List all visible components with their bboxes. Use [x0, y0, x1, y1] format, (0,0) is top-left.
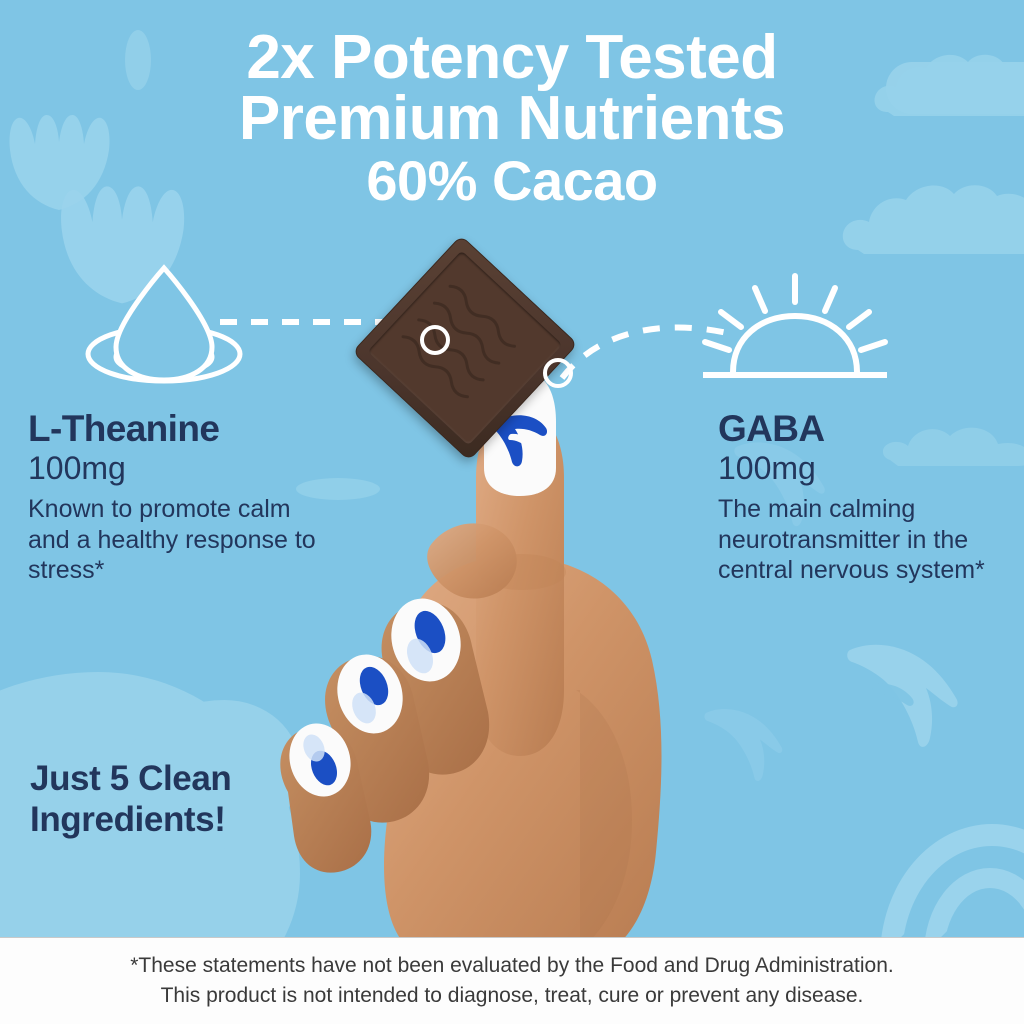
headline-line-2: Premium Nutrients: [0, 89, 1024, 150]
nutrient-description: Known to promote calm and a healthy resp…: [28, 494, 328, 586]
disclaimer-line-1: *These statements have not been evaluate…: [130, 951, 893, 981]
fda-disclaimer: *These statements have not been evaluate…: [0, 937, 1024, 1024]
headline-line-1: 2x Potency Tested: [0, 28, 1024, 89]
sunrise-icon: [695, 272, 895, 384]
nutrient-description: The main calming neurotransmitter in the…: [718, 494, 1008, 586]
nutrient-name: L-Theanine: [28, 410, 328, 449]
nutrient-block-l-theanine: L-Theanine 100mg Known to promote calm a…: [28, 410, 328, 586]
bird-icon: [846, 632, 972, 754]
claim-line-2: Ingredients!: [30, 799, 350, 840]
disclaimer-line-2: This product is not intended to diagnose…: [161, 981, 864, 1011]
nutrient-dose: 100mg: [28, 451, 328, 486]
clean-ingredients-claim: Just 5 Clean Ingredients!: [30, 758, 350, 841]
headline-line-3: 60% Cacao: [0, 154, 1024, 209]
nutrient-block-gaba: GABA 100mg The main calming neurotransmi…: [718, 410, 1008, 586]
claim-line-1: Just 5 Clean: [30, 758, 350, 799]
hand-holding-chocolate: [280, 360, 750, 960]
nutrient-dose: 100mg: [718, 451, 1008, 486]
product-marketing-image: 2x Potency Tested Premium Nutrients 60% …: [0, 0, 1024, 1024]
headline: 2x Potency Tested Premium Nutrients 60% …: [0, 28, 1024, 208]
connector-node-right: [543, 358, 573, 388]
connector-node-left: [420, 325, 450, 355]
nutrient-name: GABA: [718, 410, 1008, 449]
